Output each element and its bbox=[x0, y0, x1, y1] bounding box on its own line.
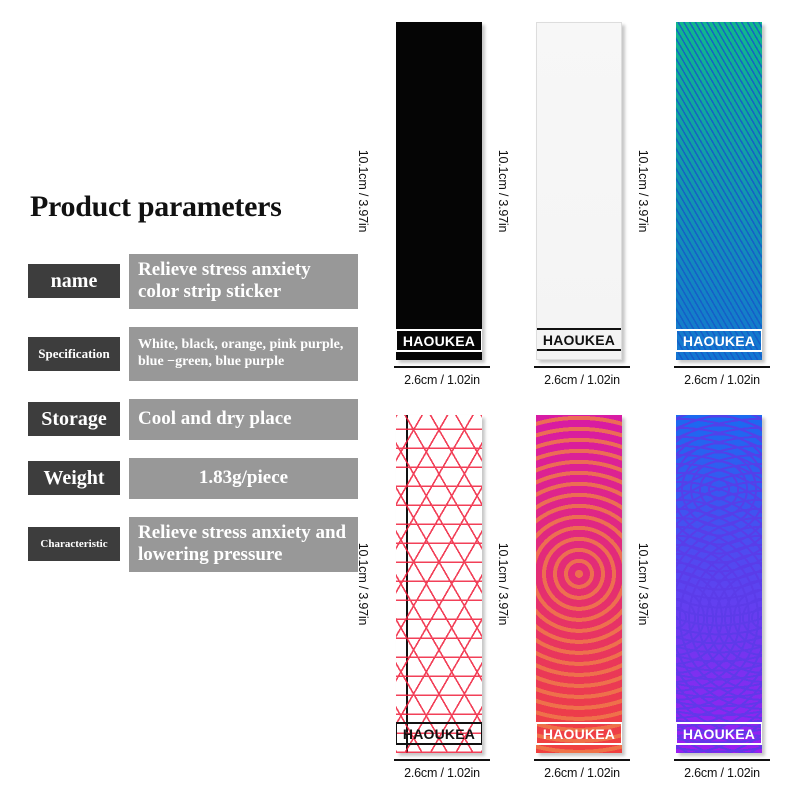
product-parameters-page: Product parameters nameRelieve stress an… bbox=[0, 0, 800, 800]
width-measure-label: 2.6cm / 1.02in bbox=[670, 766, 774, 780]
brand-label: HAOUKEA bbox=[396, 722, 482, 745]
strip-cell-pink-purple: 10.1cm / 3.97inHAOUKEA2.6cm / 1.02in bbox=[512, 407, 652, 800]
width-measurement: 2.6cm / 1.02in bbox=[390, 366, 494, 387]
brand-label: HAOUKEA bbox=[396, 329, 482, 352]
sticker-pattern bbox=[536, 415, 622, 753]
width-measure-line bbox=[534, 366, 630, 368]
spec-key: Characteristic bbox=[28, 527, 120, 561]
spec-value: Relieve stress anxiety color strip stick… bbox=[129, 254, 358, 309]
sticker-pattern bbox=[676, 22, 762, 360]
brand-label: HAOUKEA bbox=[536, 328, 622, 351]
spec-value: 1.83g/piece bbox=[129, 458, 358, 499]
spec-row: nameRelieve stress anxiety color strip s… bbox=[28, 254, 358, 309]
spec-key: Specification bbox=[28, 337, 120, 371]
spec-value: Cool and dry place bbox=[129, 399, 358, 440]
width-measure-line bbox=[674, 366, 770, 368]
strip-cell-blue-green: 10.1cm / 3.97inHAOUKEA2.6cm / 1.02in bbox=[652, 14, 792, 407]
height-measure-label: 10.1cm / 3.97in bbox=[636, 150, 650, 232]
product-sticker-blue-purple[interactable]: HAOUKEA bbox=[676, 415, 762, 753]
spec-key: Storage bbox=[28, 402, 120, 436]
sticker-pattern bbox=[676, 415, 762, 753]
brand-label: HAOUKEA bbox=[676, 722, 762, 745]
product-sticker-blue-green[interactable]: HAOUKEA bbox=[676, 22, 762, 360]
product-sticker-pink-purple[interactable]: HAOUKEA bbox=[536, 415, 622, 753]
width-measure-line bbox=[674, 759, 770, 761]
width-measurement: 2.6cm / 1.02in bbox=[530, 366, 634, 387]
product-strip-grid: 10.1cm / 3.97inHAOUKEA2.6cm / 1.02in10.1… bbox=[372, 14, 792, 800]
width-measure-label: 2.6cm / 1.02in bbox=[530, 766, 634, 780]
width-measure-line bbox=[534, 759, 630, 761]
width-measure-label: 2.6cm / 1.02in bbox=[670, 373, 774, 387]
strip-cell-blue-purple: 10.1cm / 3.97inHAOUKEA2.6cm / 1.02in bbox=[652, 407, 792, 800]
product-sticker-white[interactable]: HAOUKEA bbox=[536, 22, 622, 360]
product-sticker-orange[interactable]: HAOUKEA bbox=[396, 415, 482, 753]
strip-cell-black: 10.1cm / 3.97inHAOUKEA2.6cm / 1.02in bbox=[372, 14, 512, 407]
spec-value: Relieve stress anxiety and lowering pres… bbox=[129, 517, 358, 572]
sticker-pattern bbox=[396, 22, 482, 360]
page-title: Product parameters bbox=[30, 190, 358, 224]
brand-label: HAOUKEA bbox=[536, 722, 622, 745]
width-measure-line bbox=[394, 366, 490, 368]
spec-row: SpecificationWhite, black, orange, pink … bbox=[28, 327, 358, 381]
spec-row: CharacteristicRelieve stress anxiety and… bbox=[28, 517, 358, 572]
height-measure-label: 10.1cm / 3.97in bbox=[636, 543, 650, 625]
sticker-pattern bbox=[396, 415, 482, 753]
width-measurement: 2.6cm / 1.02in bbox=[670, 366, 774, 387]
height-measure-label: 10.1cm / 3.97in bbox=[356, 150, 370, 232]
strip-cell-orange: 10.1cm / 3.97inHAOUKEA2.6cm / 1.02in bbox=[372, 407, 512, 800]
specification-table: nameRelieve stress anxiety color strip s… bbox=[28, 254, 358, 572]
specification-panel: Product parameters nameRelieve stress an… bbox=[28, 190, 358, 590]
width-measurement: 2.6cm / 1.02in bbox=[390, 759, 494, 780]
sticker-pattern bbox=[537, 23, 621, 359]
spec-key: Weight bbox=[28, 461, 120, 495]
strip-cell-white: 10.1cm / 3.97inHAOUKEA2.6cm / 1.02in bbox=[512, 14, 652, 407]
width-measurement: 2.6cm / 1.02in bbox=[670, 759, 774, 780]
brand-label: HAOUKEA bbox=[676, 329, 762, 352]
height-measure-label: 10.1cm / 3.97in bbox=[356, 543, 370, 625]
height-measure-label: 10.1cm / 3.97in bbox=[496, 150, 510, 232]
spec-row: StorageCool and dry place bbox=[28, 399, 358, 440]
product-sticker-black[interactable]: HAOUKEA bbox=[396, 22, 482, 360]
width-measure-label: 2.6cm / 1.02in bbox=[530, 373, 634, 387]
width-measure-label: 2.6cm / 1.02in bbox=[390, 373, 494, 387]
width-measure-label: 2.6cm / 1.02in bbox=[390, 766, 494, 780]
spec-key: name bbox=[28, 264, 120, 298]
height-measure-label: 10.1cm / 3.97in bbox=[496, 543, 510, 625]
spec-value: White, black, orange, pink purple, blue … bbox=[129, 327, 358, 381]
width-measure-line bbox=[394, 759, 490, 761]
width-measurement: 2.6cm / 1.02in bbox=[530, 759, 634, 780]
spec-row: Weight1.83g/piece bbox=[28, 458, 358, 499]
